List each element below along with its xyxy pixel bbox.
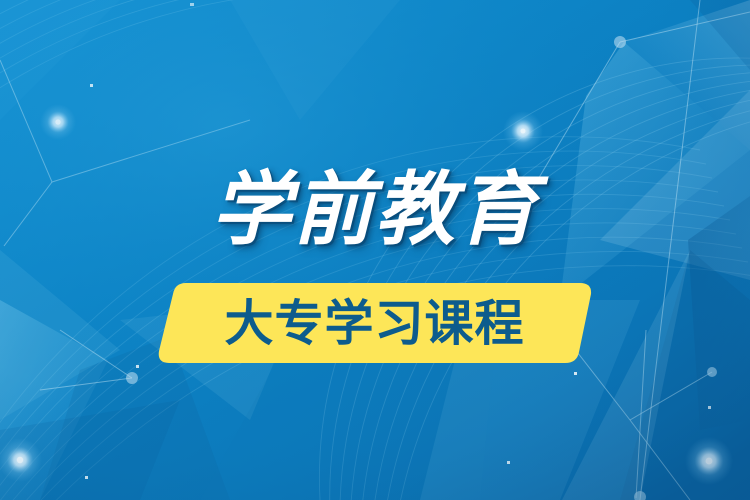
subtitle-plate-container: 大专学习课程 [0,0,750,500]
promo-banner: 学前教育 大专学习课程 [0,0,750,500]
yellow-plate [159,283,591,363]
subtitle-plate-shape [0,0,750,500]
